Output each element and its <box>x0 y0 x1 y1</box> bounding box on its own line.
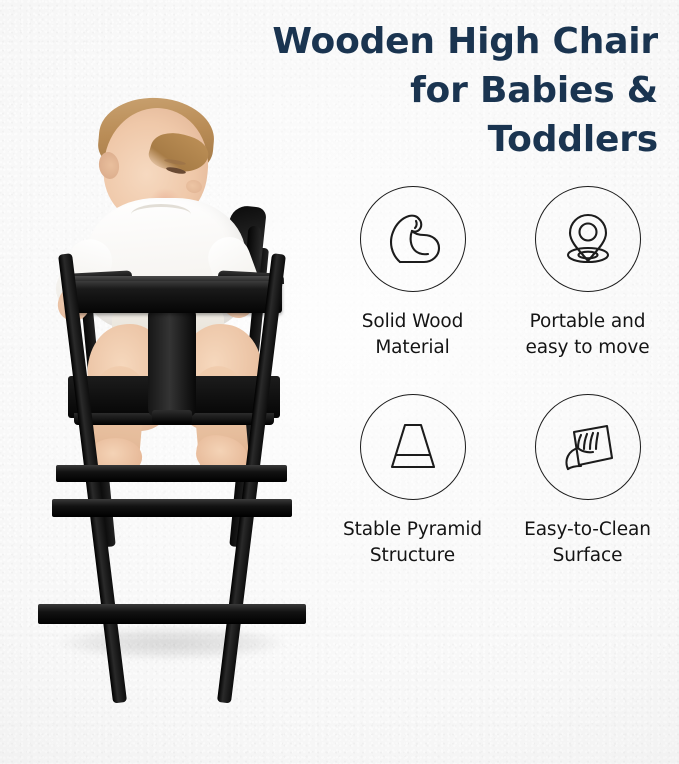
chair-crotch-post-base <box>152 410 192 424</box>
chair-safety-tray-bar <box>66 281 282 313</box>
feature-solid-wood-material: Solid Wood Material <box>330 186 495 378</box>
hand-wiping-cloth-icon <box>535 394 641 500</box>
feature-grid: Solid Wood Material Portable and easy to… <box>330 186 670 586</box>
feature-portable-easy-to-move: Portable and easy to move <box>505 186 670 378</box>
trapezoid-pyramid-icon <box>360 394 466 500</box>
chair-bottom-stretcher <box>38 604 306 624</box>
location-pin-icon <box>535 186 641 292</box>
product-infographic-poster: Wooden High Chair for Babies & Toddlers <box>0 0 679 764</box>
feature-easy-to-clean-surface: Easy-to-Clean Surface <box>505 394 670 586</box>
baby-onesie-collar <box>131 204 191 225</box>
feature-stable-pyramid-structure: Stable Pyramid Structure <box>330 394 495 586</box>
chair-middle-rung <box>52 499 292 517</box>
chair-crotch-post <box>148 308 196 416</box>
flexing-bicep-icon <box>360 186 466 292</box>
product-photo <box>0 76 345 736</box>
feature-label: Stable Pyramid Structure <box>343 517 482 570</box>
feature-label: Solid Wood Material <box>362 309 464 362</box>
feature-label: Easy-to-Clean Surface <box>524 517 651 570</box>
feature-label: Portable and easy to move <box>525 309 649 362</box>
chair-footrest <box>56 465 287 482</box>
